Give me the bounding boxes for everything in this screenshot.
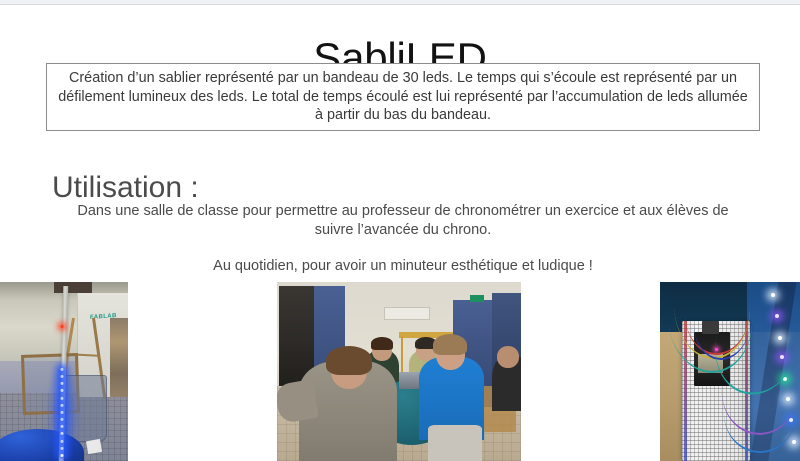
led-indicator-blue (61, 404, 64, 407)
usage-paragraph-2: Au quotidien, pour avoir un minuteur est… (58, 257, 748, 276)
led-indicator-blue (61, 440, 64, 443)
exit-sign-icon (470, 295, 485, 302)
led-indicator-blue (61, 375, 64, 378)
breadboard-photo-scene (660, 282, 800, 461)
usage-body: Dans une salle de classe pour permettre … (58, 187, 748, 290)
led-indicator-blue (61, 389, 64, 392)
description-box[interactable]: Création d’un sablier représenté par un … (46, 63, 760, 131)
paper-sheet (86, 438, 102, 453)
workshop-shelf (110, 318, 128, 397)
classroom-photo[interactable]: Selfie de l’équipe autour d’une table de… (277, 282, 521, 461)
selfie-student-hair (326, 346, 372, 375)
led-indicator-blue (61, 425, 64, 428)
slide-canvas: SabliLED Création d’un sablier représent… (0, 5, 800, 456)
strip-led-white (792, 440, 796, 444)
breadboard-photo[interactable]: Platine d’essai avec microcontrôleur câb… (660, 282, 800, 461)
led-indicator-blue (61, 454, 64, 457)
student-far-right-head (497, 346, 519, 367)
led-indicator-blue (61, 447, 64, 450)
led-indicator-blue (61, 411, 64, 414)
led-indicator-blue (61, 432, 64, 435)
led-indicator-blue (61, 418, 64, 421)
student-blue-jacket-hair (433, 334, 467, 355)
led-indicator-blue (61, 382, 64, 385)
whiteboard (384, 307, 430, 320)
led-indicator-blue (61, 397, 64, 400)
student-back-left-hair (371, 337, 393, 350)
usage-paragraph-1: Dans une salle de classe pour permettre … (58, 202, 748, 240)
led-strip-photo-scene: FABLAB (0, 282, 128, 461)
led-indicator-red (61, 325, 64, 328)
description-text: Création d’un sablier représenté par un … (47, 69, 759, 125)
selfie-student-arm (277, 379, 319, 425)
ceiling-beam (54, 282, 92, 293)
led-strip-photo[interactable]: FABLAB Bandeau de leds vertic (0, 282, 128, 461)
led-indicator-blue (61, 368, 64, 371)
classroom-photo-scene (277, 282, 521, 461)
